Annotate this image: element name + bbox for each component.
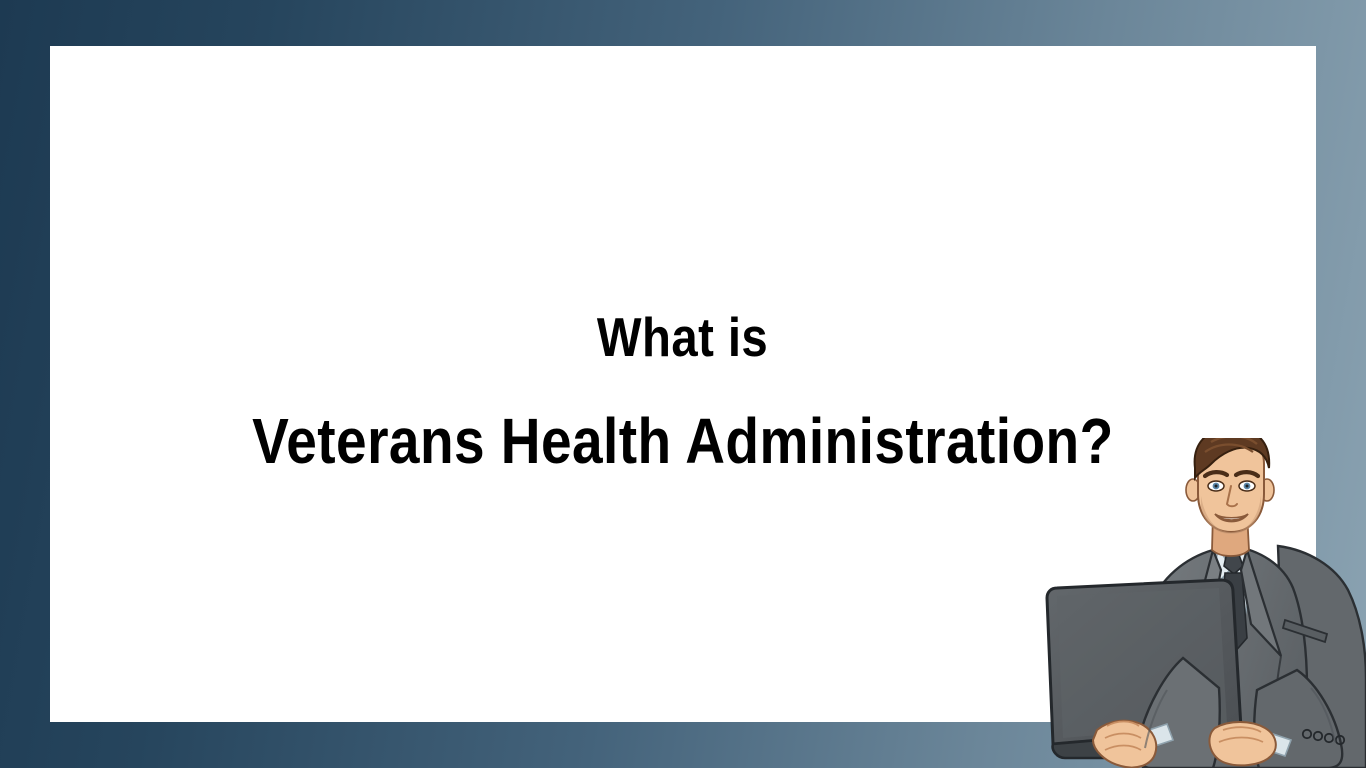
slide: What is Veterans Health Administration? xyxy=(0,0,1366,768)
content-panel: What is Veterans Health Administration? xyxy=(50,46,1316,722)
finger-line xyxy=(1105,746,1141,751)
finger-line xyxy=(1107,722,1139,727)
sleeve-cuff-buttons xyxy=(1303,730,1344,744)
finger-line xyxy=(1223,727,1261,732)
title-block: What is Veterans Health Administration? xyxy=(50,46,1316,722)
laptop-key xyxy=(1195,734,1205,738)
hand-left xyxy=(1093,721,1156,768)
shirt-cuff-right xyxy=(1255,730,1291,756)
title-line-secondary: Veterans Health Administration? xyxy=(252,409,1114,473)
title-line-primary: What is xyxy=(597,310,768,365)
laptop-keyboard xyxy=(1145,732,1237,748)
finger-line xyxy=(1105,734,1141,739)
laptop-base xyxy=(1053,728,1273,758)
hand-right xyxy=(1209,722,1275,765)
finger-line xyxy=(1219,738,1263,743)
shirt-cuff-left xyxy=(1137,724,1173,750)
laptop-key xyxy=(1167,736,1177,740)
laptop-key xyxy=(1181,735,1191,739)
laptop-key xyxy=(1153,737,1163,741)
